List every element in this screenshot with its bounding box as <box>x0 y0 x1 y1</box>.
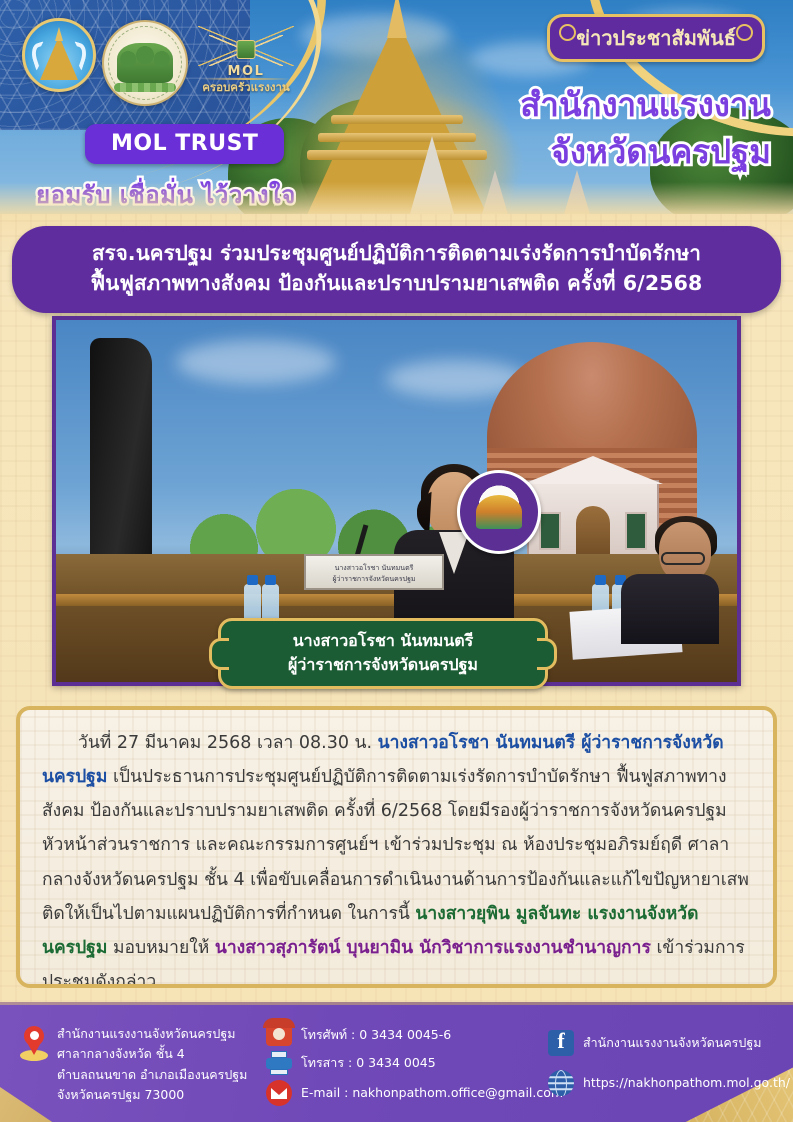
nakhon-pathom-provincial-seal <box>22 18 96 92</box>
body-seg-main: เป็นประธานการประชุมศูนย์ปฏิบัติการติดตาม… <box>42 767 749 924</box>
mol-family-logo: MOL ครอบครัวแรงงาน <box>194 24 298 96</box>
dark-pillar <box>90 338 152 588</box>
nameplate-line1: นางสาวอโรชา นันทมนตรี <box>306 563 442 574</box>
emblem-row: MOL ครอบครัวแรงงาน <box>22 18 298 106</box>
email-text[interactable]: E-mail : nakhonpathom.office@gmail.com <box>301 1083 563 1102</box>
chedi-tier <box>331 115 463 124</box>
article-body-card: วันที่ 27 มีนาคม 2568 เวลา 08.30 น. นางส… <box>16 706 777 988</box>
footer-address-block: สำนักงานแรงงานจังหวัดนครปฐม ศาลากลางจังห… <box>22 1024 247 1105</box>
poster-root: MOL ครอบครัวแรงงาน MOL TRUST ยอมรับ เชื่… <box>0 0 793 1122</box>
photo-caption-badge: นางสาวอโรชา นันทมนตรี ผู้ว่าราชการจังหวั… <box>218 618 548 689</box>
body-seg-delegate: นางสาวสุภารัตน์ บุนยามิน นักวิชาการแรงงา… <box>215 938 651 958</box>
website-text[interactable]: https://nakhonpathom.mol.go.th/ <box>583 1073 790 1092</box>
footer-divider <box>0 1002 793 1005</box>
desk-nameplate: นางสาวอโรชา นันทมนตรี ผู้ว่าราชการจังหวั… <box>304 554 444 590</box>
globe-icon[interactable] <box>548 1070 574 1096</box>
headline-line1: สรจ.นครปฐม ร่วมประชุมศูนย์ปฏิบัติการติดต… <box>38 239 755 269</box>
footer-social-block: สำนักงานแรงงานจังหวัดนครปฐม https://nakh… <box>548 1030 790 1101</box>
headline-banner: สรจ.นครปฐม ร่วมประชุมศูนย์ปฏิบัติการติดต… <box>12 226 781 313</box>
attendee-figure <box>619 522 719 642</box>
email-row[interactable]: E-mail : nakhonpathom.office@gmail.com <box>266 1080 563 1106</box>
cloud-icon <box>176 340 336 384</box>
address-line-3: ตำบลถนนขาด อำเภอเมืองนครปฐม <box>57 1065 247 1085</box>
body-seg-assign: มอบหมายให้ <box>107 938 215 958</box>
address-lines: สำนักงานแรงงานจังหวัดนครปฐม ศาลากลางจังห… <box>57 1024 247 1105</box>
address-line-4: จังหวัดนครปฐม 73000 <box>57 1085 247 1105</box>
facebook-row[interactable]: สำนักงานแรงงานจังหวัดนครปฐม <box>548 1030 790 1056</box>
hero-banner: MOL ครอบครัวแรงงาน MOL TRUST ยอมรับ เชื่… <box>0 0 793 228</box>
ministry-of-labour-seal <box>102 18 188 106</box>
office-title-line1: สำนักงานแรงงาน <box>520 78 771 131</box>
nakhonpathom-guarantee-seal <box>457 470 541 554</box>
caption-name: นางสาวอโรชา นันทมนตรี <box>231 629 535 653</box>
chedi-tier <box>307 150 487 160</box>
mol-logo-subtext: ครอบครัวแรงงาน <box>194 79 298 97</box>
office-title-line2: จังหวัดนครปฐม <box>551 125 771 178</box>
facebook-text[interactable]: สำนักงานแรงงานจังหวัดนครปฐม <box>583 1033 761 1052</box>
caption-role: ผู้ว่าราชการจังหวัดนครปฐม <box>231 653 535 677</box>
fax-row: โทรสาร : 0 3434 0045 <box>266 1051 563 1075</box>
fax-text: โทรสาร : 0 3434 0045 <box>301 1053 436 1072</box>
email-icon <box>266 1080 292 1106</box>
website-row[interactable]: https://nakhonpathom.mol.go.th/ <box>548 1070 790 1096</box>
eyeglasses-icon <box>661 552 705 565</box>
chedi-spire-icon <box>387 0 407 38</box>
telephone-icon <box>266 1024 292 1046</box>
article-paragraph: วันที่ 27 มีนาคม 2568 เวลา 08.30 น. นางส… <box>42 726 751 988</box>
headline-line2: ฟื้นฟูสภาพทางสังคม ป้องกันและปราบปรามยาเ… <box>38 269 755 299</box>
nameplate-line2: ผู้ว่าราชการจังหวัดนครปฐม <box>306 574 442 585</box>
footer-phone-block: โทรศัพท์ : 0 3434 0045-6 โทรสาร : 0 3434… <box>266 1024 563 1111</box>
phone-text: โทรศัพท์ : 0 3434 0045-6 <box>301 1025 451 1044</box>
body-seg-date: วันที่ 27 มีนาคม 2568 เวลา 08.30 น. <box>78 733 378 753</box>
location-pin-icon <box>22 1026 46 1060</box>
mol-trust-badge: MOL TRUST <box>85 124 284 164</box>
fax-icon <box>266 1051 292 1075</box>
address-line-1: สำนักงานแรงงานจังหวัดนครปฐม <box>57 1024 247 1044</box>
address-line-2: ศาลากลางจังหวัด ชั้น 4 <box>57 1044 247 1064</box>
facebook-icon[interactable] <box>548 1030 574 1056</box>
mol-logo-text: MOL <box>194 64 298 79</box>
pr-news-badge: ข่าวประชาสัมพันธ์ <box>547 14 765 62</box>
phone-row: โทรศัพท์ : 0 3434 0045-6 <box>266 1024 563 1046</box>
footer-contact-bar: สำนักงานแรงงานจังหวัดนครปฐม ศาลากลางจังห… <box>0 1002 793 1122</box>
